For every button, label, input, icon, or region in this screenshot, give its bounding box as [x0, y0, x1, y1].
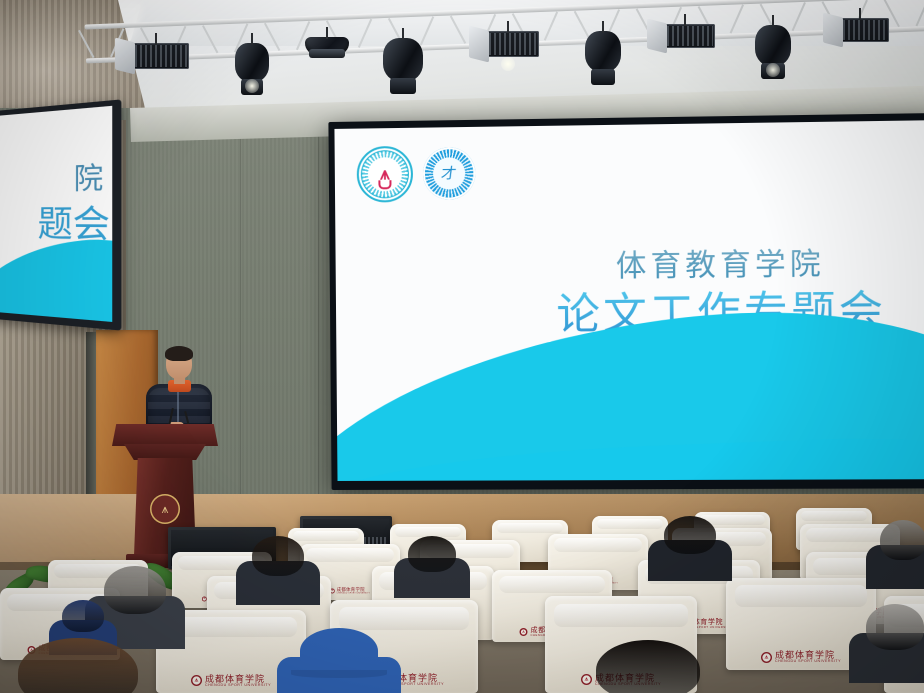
- stage-light-panel-7: [655, 24, 715, 48]
- chengdu-sport-university-seal-icon: ⩚: [357, 146, 414, 203]
- chair-brand-en: CHENGDU SPORT UNIVERSITY: [205, 684, 271, 688]
- sport-education-college-seal-icon: 才: [423, 147, 476, 200]
- attendee-blue-cap: [300, 628, 378, 674]
- podium-top-surface: [112, 424, 218, 446]
- chair-seal-icon: ⩚: [191, 675, 202, 686]
- side-monitor-panel: 院 题会: [0, 106, 112, 322]
- stage-light-panel-5: [477, 31, 539, 57]
- attendee-dark-row2: [252, 536, 304, 576]
- attendee-gray-hair: [104, 566, 166, 614]
- stage-light-par-3: [305, 37, 349, 55]
- stage-light-ellip-8: [755, 25, 791, 67]
- slide-logo-group: ⩚ 才: [357, 145, 476, 203]
- side-monitor-text-line2: 题会: [38, 206, 110, 244]
- attendee-short-hair: [408, 536, 456, 572]
- side-display-monitor[interactable]: 院 题会: [0, 99, 121, 330]
- attendee-right-edge: [880, 520, 924, 560]
- stage-light-ellip-6: [585, 31, 621, 73]
- chair-brand-mark: ⩚成都体育学院CHENGDU SPORT UNIVERSITY: [191, 675, 271, 688]
- presenter-at-podium: [142, 348, 214, 432]
- podium-university-seal-icon: ⩚: [150, 494, 180, 524]
- chair-brand-mark: ⩚成都体育学院CHENGDU SPORT UNIVERSITY: [761, 651, 841, 664]
- attendee-front-right: [596, 640, 700, 693]
- attendee-center-back: [664, 516, 716, 554]
- podium-seal-glyph: ⩚: [162, 503, 169, 515]
- chair-brand-en: CHENGDU SPORT UNIVERSITY: [775, 660, 841, 664]
- chair-seal-icon: ⩚: [519, 628, 527, 636]
- chair-seal-icon: ⩚: [581, 674, 592, 685]
- main-led-screen[interactable]: ⩚ 才 体育教育学院 论文工作专题会 二零二四年十二月三日: [328, 113, 924, 490]
- slide-subtitle: 体育教育学院: [552, 247, 890, 285]
- stage-light-ellip-4: [383, 38, 423, 82]
- side-monitor-wave-cyan: [0, 230, 112, 322]
- stage-light-panel-1: [123, 43, 189, 69]
- chair-seal-icon: ⩚: [761, 652, 772, 663]
- presenter-hair: [165, 346, 193, 361]
- chair-brand-mark: ⩚成都体育学院CHENGDU SPORT UNIVERSITY: [330, 588, 370, 594]
- auditorium-photo: 院 题会 ⩚ 才 体育教育学院 论文工作专题会: [0, 0, 924, 693]
- attendee-row3-left: [62, 600, 104, 632]
- stage-light-ellip-2: [235, 43, 269, 83]
- stage-light-glow-2: [245, 79, 259, 93]
- college-glyph-icon: 才: [441, 166, 458, 181]
- stage-light-glow-5: [501, 57, 515, 71]
- chair-brand-en: CHENGDU SPORT UNIVERSITY: [337, 592, 370, 594]
- stage-light-glow-8: [766, 63, 780, 77]
- stage-light-panel-9: [831, 18, 889, 42]
- attendee-far-right: [866, 604, 924, 650]
- presentation-slide: ⩚ 才 体育教育学院 论文工作专题会 二零二四年十二月三日: [334, 120, 924, 481]
- podium-neck: [124, 444, 206, 460]
- side-monitor-text-line1: 院: [74, 164, 103, 194]
